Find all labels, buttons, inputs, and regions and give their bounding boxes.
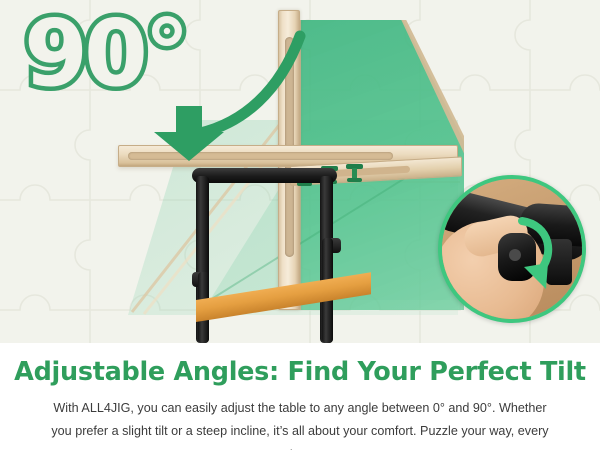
rotation-arrow-icon bbox=[502, 211, 564, 291]
detail-inset-circle bbox=[438, 175, 586, 323]
product-feature-banner: 90° Adjustable Angles: Find Your Perfect… bbox=[0, 0, 600, 450]
clamp-foot bbox=[347, 178, 362, 182]
angle-badge-90: 90° bbox=[24, 8, 186, 100]
green-clamp-knob bbox=[346, 164, 363, 182]
leg-crossbar bbox=[192, 168, 337, 183]
hero-image-area: 90° bbox=[0, 0, 600, 343]
body-line-2: prefer a slight tilt or a steep incline,… bbox=[75, 424, 548, 450]
inset-photo bbox=[442, 179, 582, 319]
headline: Adjustable Angles: Find Your Perfect Til… bbox=[0, 357, 600, 387]
body-copy: With ALL4JIG, you can easily adjust the … bbox=[42, 397, 558, 450]
copy-block: Adjustable Angles: Find Your Perfect Til… bbox=[0, 343, 600, 450]
